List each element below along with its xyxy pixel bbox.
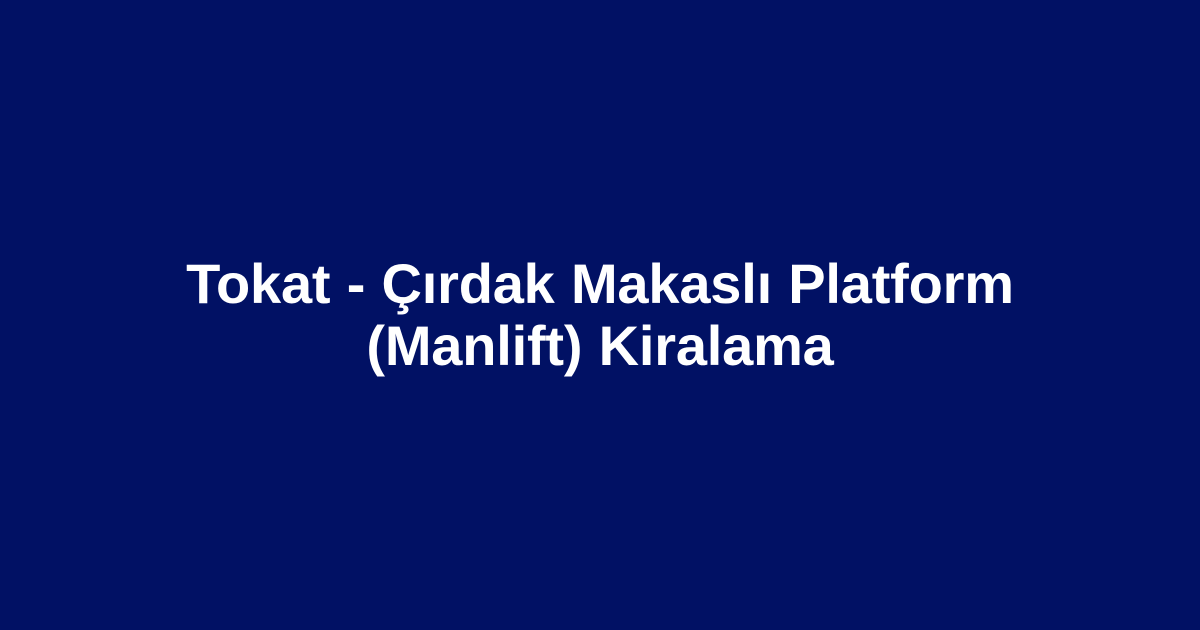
page-title: Tokat - Çırdak Makaslı Platform (Manlift… xyxy=(170,253,1030,377)
title-block: Tokat - Çırdak Makaslı Platform (Manlift… xyxy=(170,253,1030,377)
og-preview-card: Tokat - Çırdak Makaslı Platform (Manlift… xyxy=(0,0,1200,630)
